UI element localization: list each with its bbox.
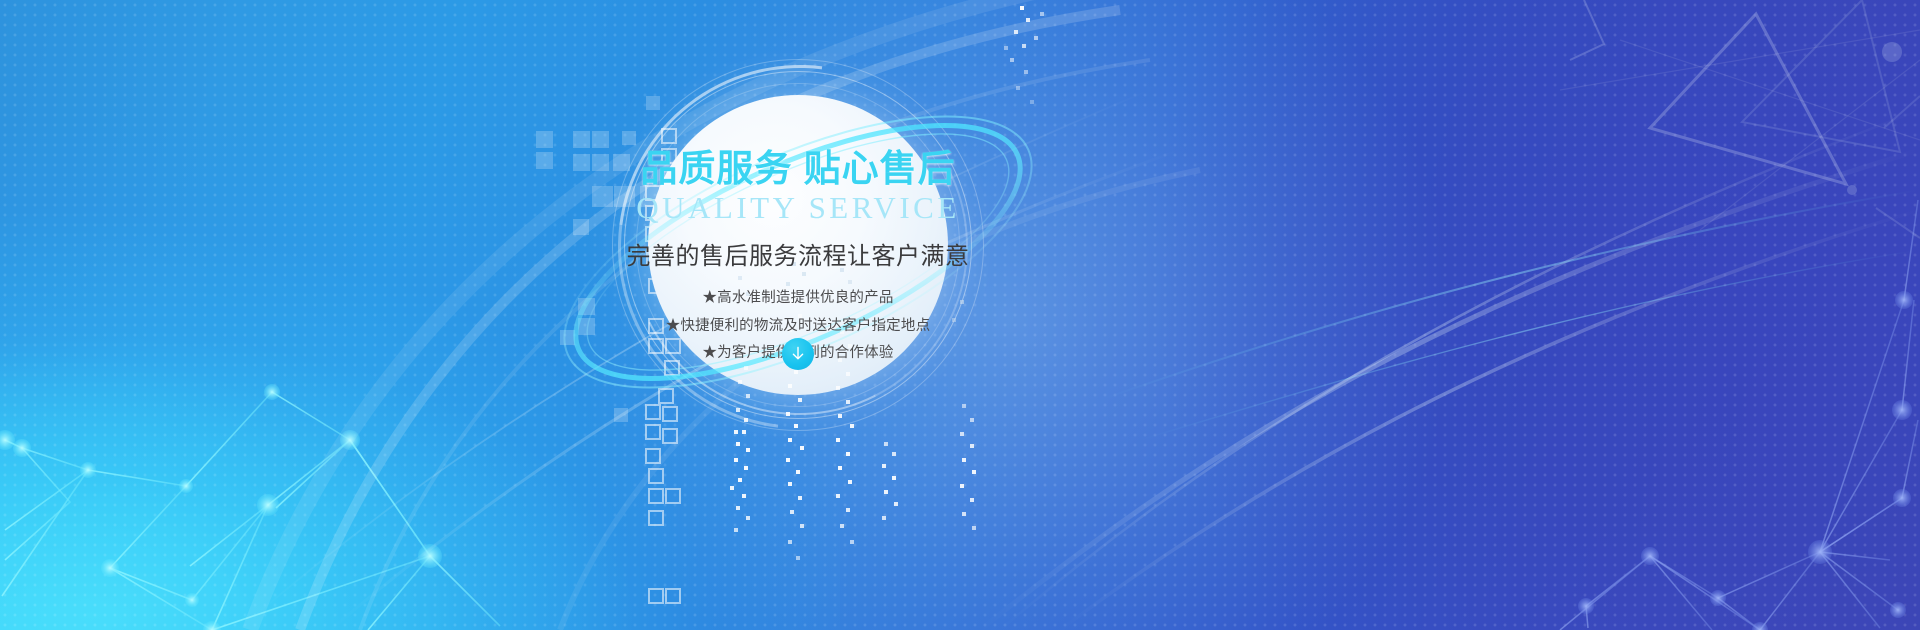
- banner-subtitle: 完善的售后服务流程让客户满意: [608, 223, 988, 269]
- hero-text-block: 品质服务 贴心售后 QUALITY SERVICE 完善的售后服务流程让客户满意…: [608, 55, 988, 435]
- banner-title-cn: 品质服务 贴心售后: [608, 55, 988, 187]
- banner-title-en: QUALITY SERVICE: [608, 187, 988, 223]
- scroll-down-button[interactable]: [782, 338, 814, 370]
- arrow-down-icon: [789, 345, 807, 363]
- list-item: ★高水准制造提供优良的产品: [608, 291, 988, 319]
- promo-banner: 品质服务 贴心售后 QUALITY SERVICE 完善的售后服务流程让客户满意…: [0, 0, 1920, 630]
- background-cyan-glow-inner: [0, 330, 640, 630]
- background-indigo-glow: [1160, 0, 1920, 630]
